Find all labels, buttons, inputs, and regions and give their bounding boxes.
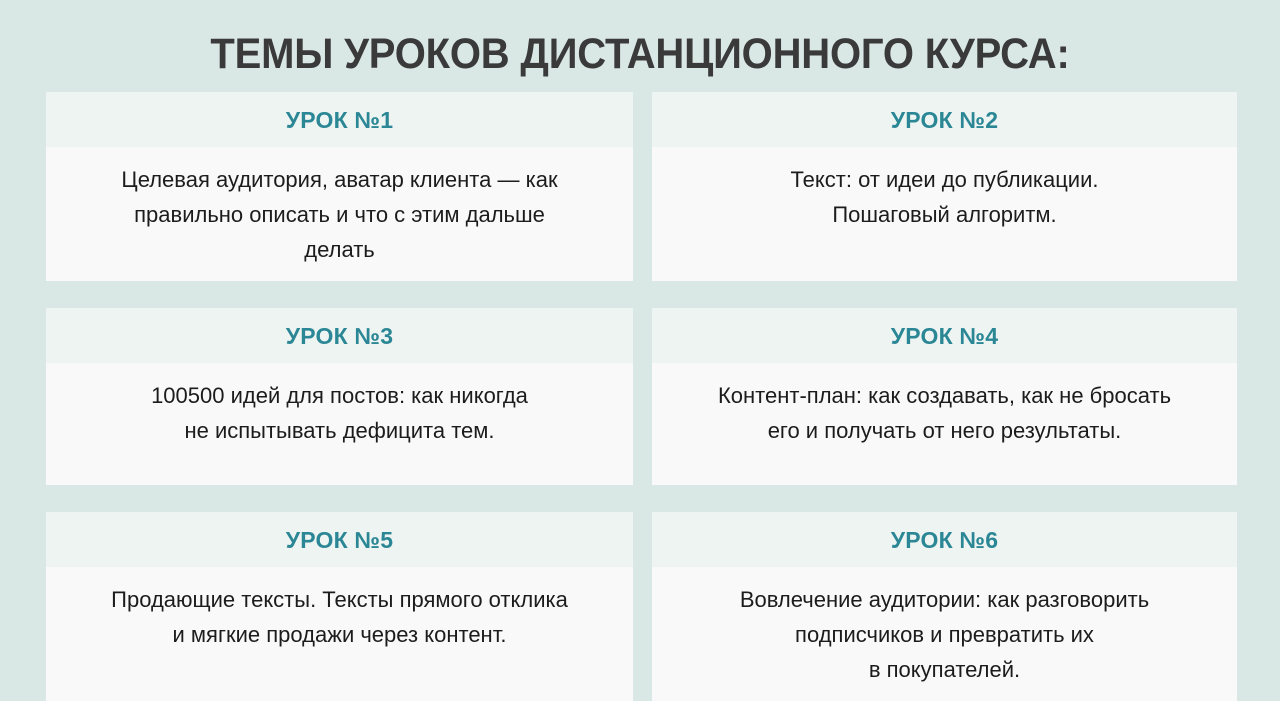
lesson-card-body-3: 100500 идей для постов: как никогда не и… (46, 363, 633, 485)
lesson-card-text-2: Текст: от идеи до публикации. Пошаговый … (668, 162, 1221, 232)
lesson-card-header-4: УРОК №4 (652, 308, 1237, 363)
lesson-card-body-4: Контент-план: как создавать, как не брос… (652, 363, 1237, 485)
lesson-card-5[interactable]: УРОК №5 Продающие тексты. Тексты прямого… (46, 512, 633, 701)
lesson-card-2[interactable]: УРОК №2 Текст: от идеи до публикации. По… (652, 92, 1237, 281)
lesson-card-header-1: УРОК №1 (46, 92, 633, 147)
lessons-page: ТЕМЫ УРОКОВ ДИСТАНЦИОННОГО КУРСА: УРОК №… (0, 0, 1280, 682)
lesson-card-body-5: Продающие тексты. Тексты прямого отклика… (46, 567, 633, 701)
lesson-card-body-2: Текст: от идеи до публикации. Пошаговый … (652, 147, 1237, 281)
lesson-card-header-2: УРОК №2 (652, 92, 1237, 147)
lesson-card-label-4: УРОК №4 (891, 323, 999, 349)
lesson-card-text-3: 100500 идей для постов: как никогда не и… (62, 378, 617, 448)
lesson-card-text-4: Контент-план: как создавать, как не брос… (668, 378, 1221, 448)
lesson-card-body-6: Вовлечение аудитории: как разговорить по… (652, 567, 1237, 701)
lesson-card-text-5: Продающие тексты. Тексты прямого отклика… (62, 582, 617, 652)
lesson-card-1[interactable]: УРОК №1 Целевая аудитория, аватар клиент… (46, 92, 633, 281)
lesson-card-label-1: УРОК №1 (286, 107, 394, 133)
lesson-card-label-3: УРОК №3 (286, 323, 394, 349)
lesson-card-grid: УРОК №1 Целевая аудитория, аватар клиент… (46, 92, 1237, 701)
lesson-card-header-5: УРОК №5 (46, 512, 633, 567)
lesson-card-4[interactable]: УРОК №4 Контент-план: как создавать, как… (652, 308, 1237, 485)
lesson-card-label-6: УРОК №6 (891, 527, 999, 553)
lesson-card-text-6: Вовлечение аудитории: как разговорить по… (668, 582, 1221, 687)
lesson-card-text-1: Целевая аудитория, аватар клиента — как … (62, 162, 617, 267)
lesson-card-label-5: УРОК №5 (286, 527, 394, 553)
lesson-card-3[interactable]: УРОК №3 100500 идей для постов: как нико… (46, 308, 633, 485)
lesson-card-6[interactable]: УРОК №6 Вовлечение аудитории: как разгов… (652, 512, 1237, 701)
lesson-card-header-6: УРОК №6 (652, 512, 1237, 567)
lesson-card-label-2: УРОК №2 (891, 107, 999, 133)
lesson-card-body-1: Целевая аудитория, аватар клиента — как … (46, 147, 633, 281)
page-title: ТЕМЫ УРОКОВ ДИСТАНЦИОННОГО КУРСА: (45, 31, 1235, 77)
lesson-card-header-3: УРОК №3 (46, 308, 633, 363)
